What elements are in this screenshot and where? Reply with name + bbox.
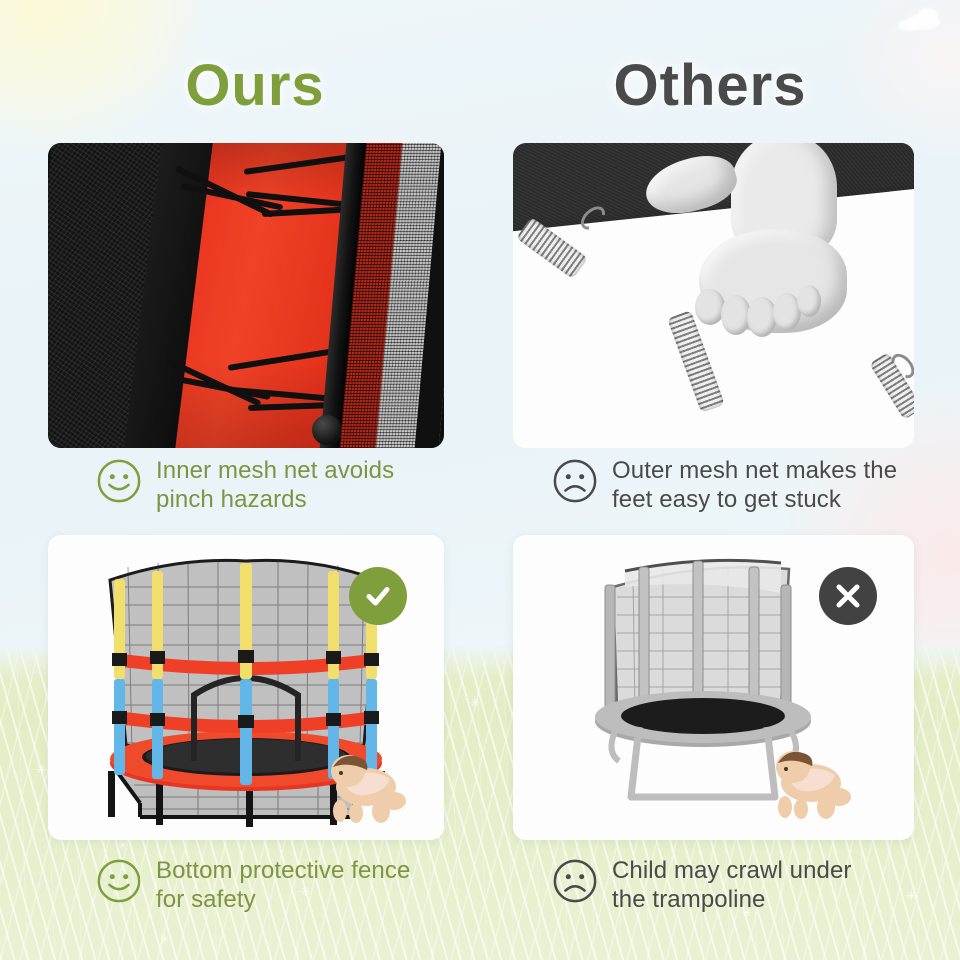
- caption-ours-bottom-fence: Bottom protective fence for safety: [96, 856, 456, 915]
- grass-sparkle: ✳: [118, 841, 127, 852]
- caption-text: Child may crawl under the trampoline: [612, 856, 852, 915]
- page-title-others: Others: [470, 52, 950, 119]
- sad-face-icon: [552, 858, 598, 904]
- caption-line-2: the trampoline: [612, 885, 852, 914]
- cloud-icon: [898, 20, 920, 31]
- cloud-icon: [918, 8, 938, 22]
- grass-sparkle: ✳: [470, 697, 480, 709]
- image-others-full-trampoline: [513, 535, 914, 840]
- caption-line-2: for safety: [156, 885, 410, 914]
- caption-ours-inner-mesh: Inner mesh net avoids pinch hazards: [96, 456, 456, 515]
- image-ours-full-trampoline: [48, 535, 444, 840]
- page-title-ours: Ours: [15, 52, 495, 119]
- grass-sparkle: ✳: [160, 935, 169, 946]
- sad-face-icon: [552, 458, 598, 504]
- grass-sparkle: ✳: [36, 763, 47, 776]
- image-ours-inner-mesh: [48, 143, 444, 448]
- caption-text: Inner mesh net avoids pinch hazards: [156, 456, 394, 515]
- caption-line-1: Inner mesh net avoids: [156, 456, 394, 485]
- baby-toe: [797, 285, 821, 317]
- caption-line-1: Child may crawl under: [612, 856, 852, 885]
- caption-text: Bottom protective fence for safety: [156, 856, 410, 915]
- smiley-face-icon: [96, 458, 142, 504]
- image-others-spring-gap: [513, 143, 914, 448]
- caption-line-1: Outer mesh net makes the: [612, 456, 897, 485]
- cord-knob: [312, 415, 342, 445]
- caption-line-2: feet easy to get stuck: [612, 485, 897, 514]
- cross-circle-icon: [819, 567, 877, 625]
- caption-line-2: pinch hazards: [156, 485, 394, 514]
- caption-text: Outer mesh net makes the feet easy to ge…: [612, 456, 897, 515]
- smiley-face-icon: [96, 858, 142, 904]
- caption-others-crawl-under: Child may crawl under the trampoline: [552, 856, 942, 915]
- caption-others-spring-gap: Outer mesh net makes the feet easy to ge…: [552, 456, 942, 515]
- caption-line-1: Bottom protective fence: [156, 856, 410, 885]
- check-circle-icon: [349, 567, 407, 625]
- crawling-baby: [776, 751, 851, 819]
- comparison-infographic: ✳ ✳ ✳ ✳ ✳ ✳ ✳ ✳ ✳ ✳ ✳ ✳ ✳ ✳ Ours Others: [0, 0, 960, 960]
